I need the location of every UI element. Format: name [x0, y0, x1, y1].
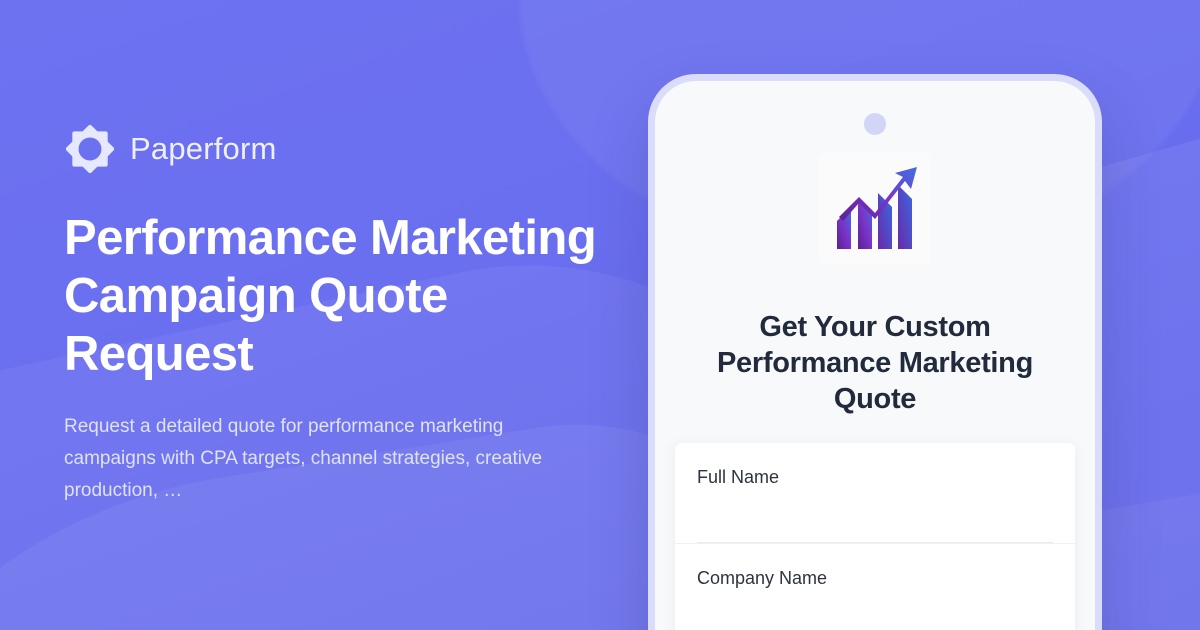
form-field-full-name[interactable]: Full Name: [675, 443, 1075, 543]
form-title: Get Your Custom Performance Marketing Qu…: [689, 309, 1061, 417]
field-label: Full Name: [697, 465, 1053, 489]
form-card: Full Name Company Name: [675, 443, 1075, 630]
page-description: Request a detailed quote for performance…: [64, 411, 554, 507]
share-card: Paperform Performance Marketing Campaign…: [0, 0, 1200, 630]
text-input[interactable]: [697, 489, 1053, 543]
brand-lockup: Paperform: [64, 123, 624, 175]
phone-mockup: Get Your Custom Performance Marketing Qu…: [648, 74, 1102, 630]
paperform-star-logo-icon: [64, 123, 116, 175]
form-logo: [819, 153, 931, 265]
field-label: Company Name: [697, 566, 1053, 590]
growth-chart-icon: [825, 159, 925, 259]
hero-content: Paperform Performance Marketing Campaign…: [64, 0, 624, 630]
phone-screen: Get Your Custom Performance Marketing Qu…: [655, 81, 1095, 630]
brand-name: Paperform: [130, 131, 277, 167]
page-title: Performance Marketing Campaign Quote Req…: [64, 209, 604, 383]
text-input[interactable]: [697, 590, 1053, 630]
form-field-company-name[interactable]: Company Name: [675, 543, 1075, 630]
